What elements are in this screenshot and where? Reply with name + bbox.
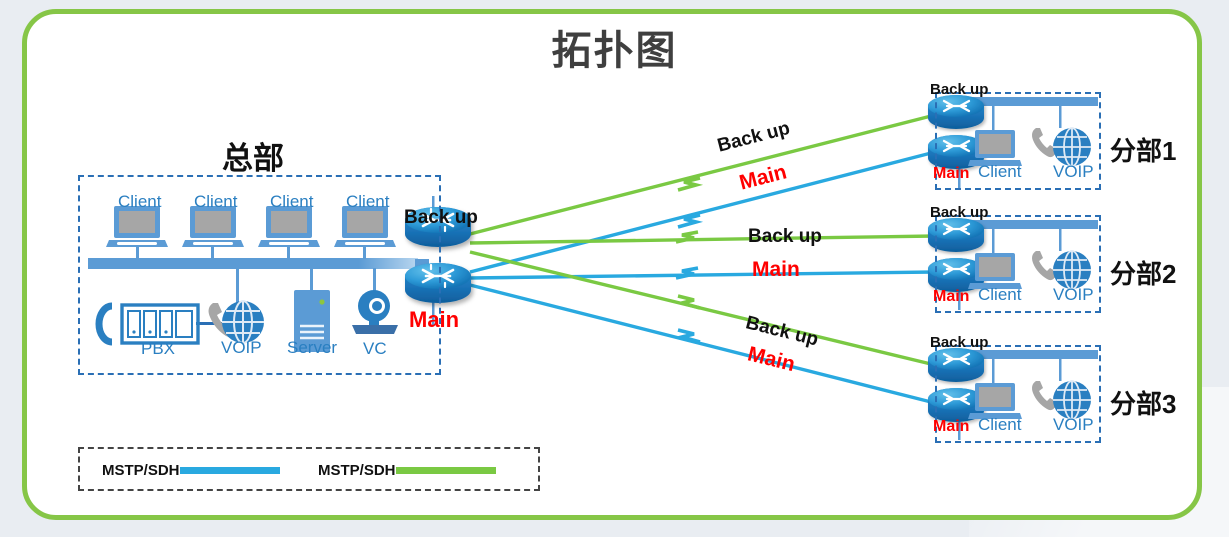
branch-1-backup-label: Back up <box>930 81 988 98</box>
legend-swatch-main <box>180 467 280 474</box>
legend-item-backup[interactable]: MSTP/SDH <box>318 462 496 479</box>
branch-2-title: 分部2 <box>1110 254 1176 291</box>
branch-2-main-label: Main <box>933 288 969 306</box>
legend-label-main: MSTP/SDH <box>102 462 180 479</box>
page-title: 拓扑图 <box>0 18 1229 76</box>
hq-title: 总部 <box>222 133 284 178</box>
legend: MSTP/SDH MSTP/SDH <box>78 447 540 491</box>
legend-swatch-backup <box>396 467 496 474</box>
hq-pbx-label: PBX <box>141 339 175 359</box>
branch-1-main-label: Main <box>933 165 969 183</box>
branch-2-backup-label: Back up <box>930 204 988 221</box>
hq-router-main-label: Main <box>409 307 459 333</box>
hq-router-backup-label: Back up <box>404 207 478 229</box>
hq-vc-label: VC <box>363 339 387 359</box>
hq-client-3-label: Client <box>270 192 313 212</box>
branch-3-backup-label: Back up <box>930 334 988 351</box>
branch-1-voip-label: VOIP <box>1053 163 1083 180</box>
branch-1-client-label: Client <box>978 163 1012 180</box>
hq-voip-label: VOIP <box>221 339 253 357</box>
hq-server-label: Server <box>287 339 329 357</box>
topology-diagram-canvas: 拓扑图 <box>0 0 1229 537</box>
branch-1-title: 分部1 <box>1110 131 1176 168</box>
branch-2-client-label: Client <box>978 286 1012 303</box>
link-label-backup-branch-2: Back up <box>748 226 822 248</box>
branch-3-main-label: Main <box>933 418 969 436</box>
hq-client-4-label: Client <box>346 192 389 212</box>
branch-3-voip-label: VOIP <box>1053 416 1083 433</box>
link-label-main-branch-2: Main <box>752 258 800 282</box>
branch-2-voip-label: VOIP <box>1053 286 1083 303</box>
branch-3-title: 分部3 <box>1110 384 1176 421</box>
legend-item-main[interactable]: MSTP/SDH <box>102 462 280 479</box>
legend-label-backup: MSTP/SDH <box>318 462 396 479</box>
branch-3-client-label: Client <box>978 416 1012 433</box>
hq-client-1-label: Client <box>118 192 161 212</box>
hq-client-2-label: Client <box>194 192 237 212</box>
